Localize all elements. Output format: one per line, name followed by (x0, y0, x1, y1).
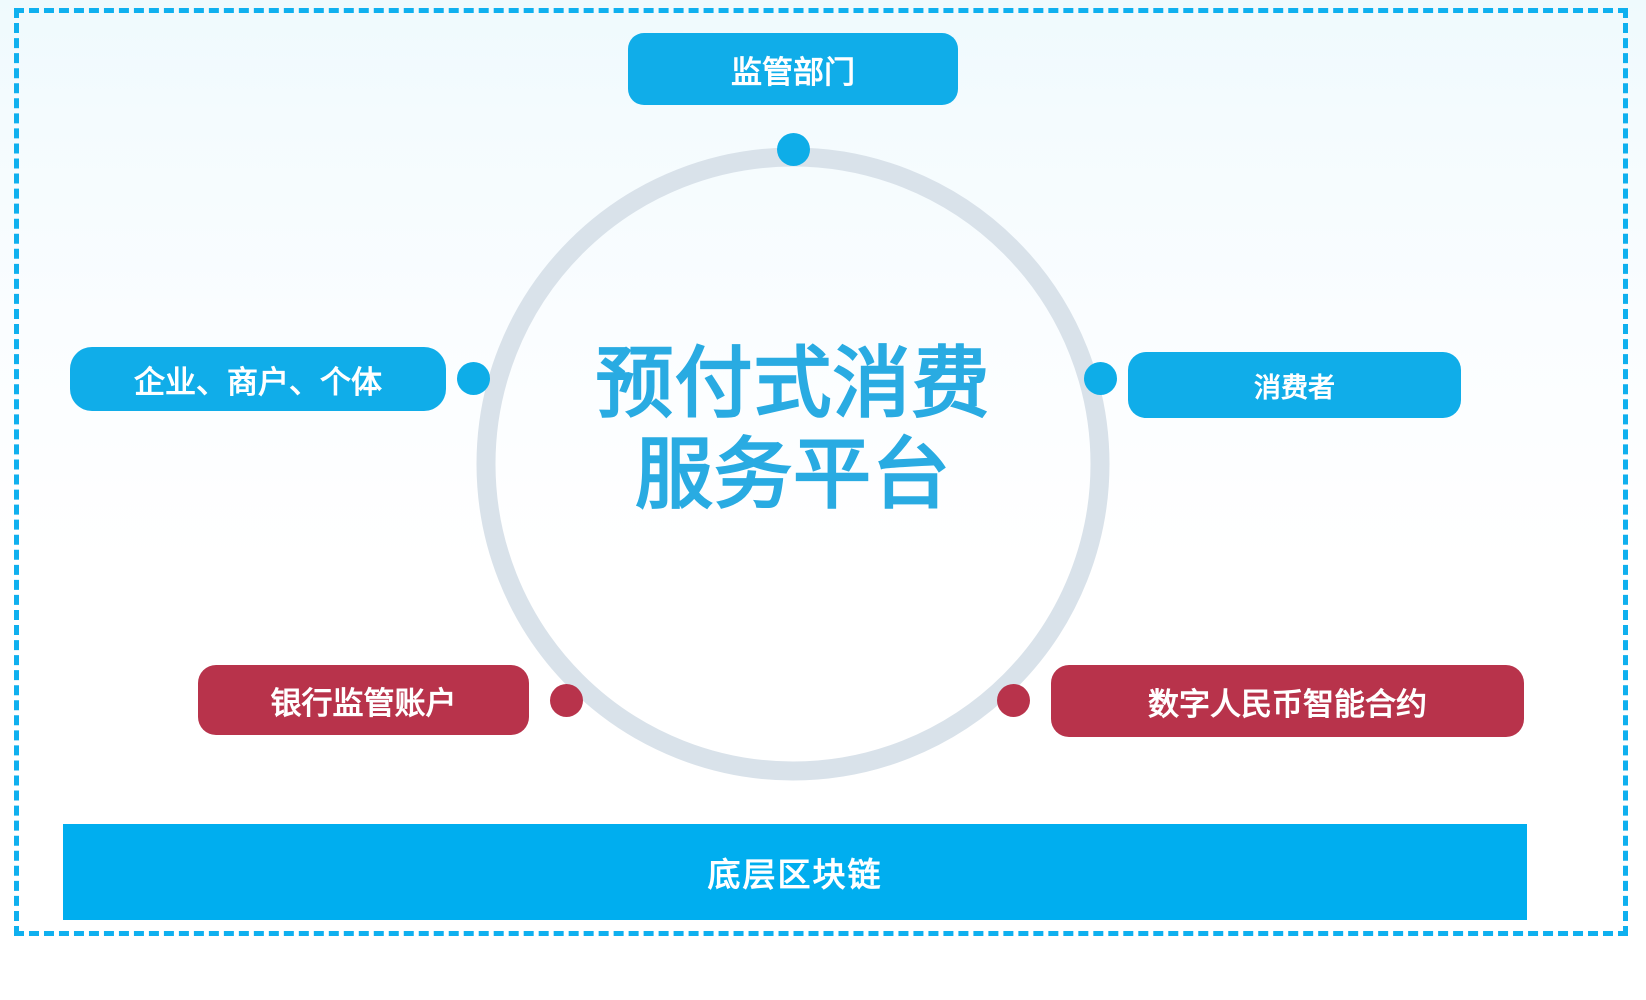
foundation-bar-blockchain[interactable]: 底层区块链 (63, 824, 1527, 920)
node-label-consumers[interactable]: 消费者 (1128, 352, 1461, 418)
connector-dot-bank (550, 684, 583, 717)
page-title: 预付式消费 服务平台 (543, 338, 1043, 521)
node-label-digital-rmb-contract[interactable]: 数字人民币智能合约 (1051, 665, 1524, 737)
connector-dot-regulator (777, 133, 810, 166)
connector-dot-contract (997, 684, 1030, 717)
center-title-line-1: 预付式消费 (543, 338, 1043, 429)
node-label-bank-account[interactable]: 银行监管账户 (198, 665, 529, 735)
diagram-canvas: 预付式消费 服务平台 监管部门 企业、商户、个体 消费者 银行监管账户 数字人民… (0, 0, 1646, 1000)
connector-dot-consumers (1084, 362, 1117, 395)
node-label-regulator[interactable]: 监管部门 (628, 33, 958, 105)
connector-dot-merchants (457, 362, 490, 395)
node-label-merchants[interactable]: 企业、商户、个体 (70, 347, 446, 411)
center-title-line-2: 服务平台 (543, 429, 1043, 520)
